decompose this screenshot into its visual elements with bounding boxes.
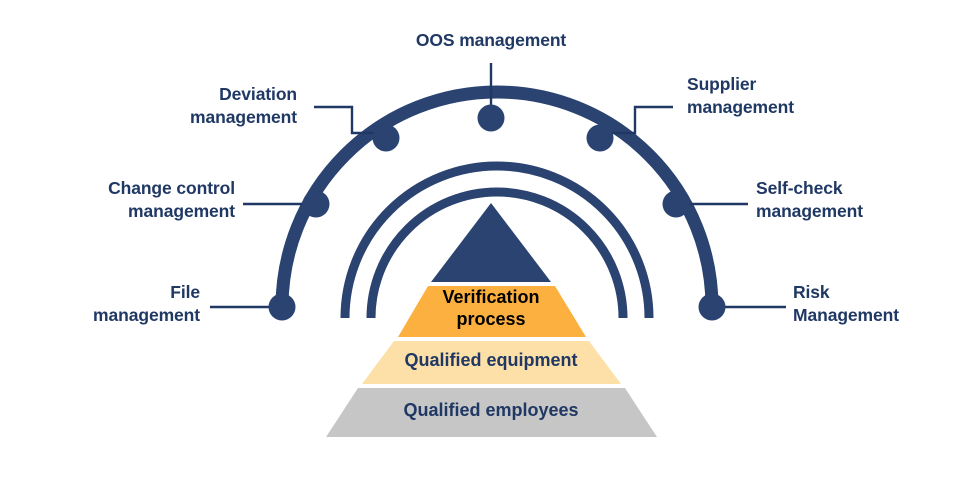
pyramid-tier-verification[interactable] — [398, 286, 586, 337]
arc-label-risk[interactable]: Risk Management — [793, 281, 968, 327]
arc-label-oos[interactable]: OOS management — [341, 29, 641, 52]
pyramid-tier-equipment[interactable] — [362, 341, 621, 384]
arc-label-supplier[interactable]: Supplier management — [687, 73, 917, 119]
node-dot-file[interactable] — [269, 294, 296, 321]
arc-label-self-check[interactable]: Self-check management — [756, 177, 966, 223]
node-dot-supplier[interactable] — [587, 125, 614, 152]
arc-label-file[interactable]: File management — [28, 281, 200, 327]
arc-label-deviation[interactable]: Deviation management — [75, 83, 297, 129]
node-dot-change-control[interactable] — [303, 191, 330, 218]
pyramid-group — [326, 203, 657, 437]
pyramid-tier-employees[interactable] — [326, 388, 657, 437]
pyramid-tier-apex[interactable] — [431, 203, 551, 282]
node-dot-risk[interactable] — [699, 294, 726, 321]
node-dot-self-check[interactable] — [663, 191, 690, 218]
node-dot-deviation[interactable] — [373, 125, 400, 152]
diagram-canvas: OOS management Deviation management Supp… — [0, 0, 975, 482]
node-dot-oos[interactable] — [478, 105, 505, 132]
arc-label-change-control[interactable]: Change control management — [35, 177, 235, 223]
